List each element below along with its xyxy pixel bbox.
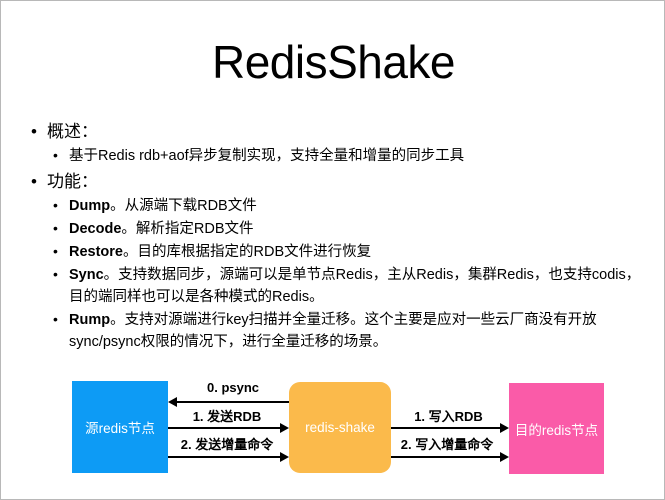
- arrow-label-send-incr: 2. 发送增量命令: [165, 434, 289, 453]
- arrow-line-send-rdb: [168, 427, 280, 429]
- arrow-line-write-incr: [391, 456, 500, 458]
- outline-heading-overview: • 概述：: [25, 119, 650, 144]
- list-item: • Rump。支持对源端进行key扫描并全量迁移。这个主要是应对一些云厂商没有开…: [47, 309, 650, 353]
- diagram-node-label: redis-shake: [305, 420, 375, 435]
- list-item: • Sync。支持数据同步，源端可以是单节点Redis，主从Redis，集群Re…: [47, 264, 650, 308]
- feature-keyword: Dump: [69, 198, 110, 214]
- list-item-text: 基于Redis rdb+aof异步复制实现，支持全量和增量的同步工具: [69, 148, 464, 164]
- outline-heading-features: • 功能：: [25, 169, 650, 194]
- list-item-text: 。目的库根据指定的RDB文件进行恢复: [123, 244, 371, 260]
- outline-sublist-overview: • 基于Redis rdb+aof异步复制实现，支持全量和增量的同步工具: [25, 145, 650, 167]
- arrow-head-write-incr: [500, 452, 509, 462]
- diagram-node-target-redis: 目的redis节点: [509, 383, 604, 474]
- bullet-icon: •: [53, 308, 58, 330]
- arrow-line-send-incr: [168, 456, 280, 458]
- list-item: • Restore。目的库根据指定的RDB文件进行恢复: [47, 241, 650, 263]
- arrow-head-send-incr: [280, 452, 289, 462]
- feature-keyword: Decode: [69, 221, 121, 237]
- feature-items: • Dump。从源端下载RDB文件 • Decode。解析指定RDB文件 • R…: [47, 195, 650, 353]
- feature-keyword: Rump: [69, 312, 110, 328]
- list-item: • 基于Redis rdb+aof异步复制实现，支持全量和增量的同步工具: [47, 145, 650, 167]
- diagram-node-source-redis: 源redis节点: [72, 381, 168, 473]
- arrow-label-psync: 0. psync: [177, 380, 289, 395]
- page-title: RedisShake: [1, 35, 665, 89]
- diagram-node-label: 源redis节点: [85, 417, 155, 437]
- arrow-line-write-rdb: [391, 427, 500, 429]
- bullet-icon: •: [53, 144, 58, 166]
- list-item-text: 。从源端下载RDB文件: [110, 198, 257, 214]
- bullet-icon: •: [53, 263, 58, 285]
- bullet-icon: •: [53, 194, 58, 216]
- architecture-diagram: 源redis节点 redis-shake 目的redis节点 0. psync …: [1, 367, 665, 492]
- slide-canvas: RedisShake • 概述： • 基于Redis rdb+aof异步复制实现…: [0, 0, 665, 500]
- arrow-label-send-rdb: 1. 发送RDB: [168, 406, 286, 425]
- diagram-node-label: 目的redis节点: [515, 419, 598, 439]
- bullet-icon: •: [53, 217, 58, 239]
- arrow-line-psync: [177, 401, 289, 403]
- arrow-label-write-incr: 2. 写入增量命令: [387, 434, 507, 453]
- list-item-text: 。支持对源端进行key扫描并全量迁移。这个主要是应对一些云厂商没有开放sync/…: [69, 312, 597, 350]
- outline-heading-label: 概述：: [47, 122, 98, 141]
- arrow-label-write-rdb: 1. 写入RDB: [391, 406, 506, 425]
- feature-keyword: Sync: [69, 267, 104, 283]
- list-item: • Dump。从源端下载RDB文件: [47, 195, 650, 217]
- bullet-icon: •: [53, 240, 58, 262]
- feature-keyword: Restore: [69, 244, 123, 260]
- bullet-icon: •: [31, 119, 37, 144]
- list-item-text: 。解析指定RDB文件: [121, 221, 253, 237]
- outline-heading-label: 功能：: [47, 172, 98, 191]
- bullet-icon: •: [31, 169, 37, 194]
- content-body: • 概述： • 基于Redis rdb+aof异步复制实现，支持全量和增量的同步…: [25, 119, 650, 355]
- diagram-node-redis-shake: redis-shake: [289, 382, 391, 473]
- outline-list: • 概述： • 基于Redis rdb+aof异步复制实现，支持全量和增量的同步…: [25, 119, 650, 353]
- outline-sublist-features: • Dump。从源端下载RDB文件 • Decode。解析指定RDB文件 • R…: [25, 195, 650, 353]
- list-item-text: 。支持数据同步，源端可以是单节点Redis，主从Redis，集群Redis，也支…: [69, 267, 640, 305]
- overview-items: • 基于Redis rdb+aof异步复制实现，支持全量和增量的同步工具: [47, 145, 650, 167]
- list-item: • Decode。解析指定RDB文件: [47, 218, 650, 240]
